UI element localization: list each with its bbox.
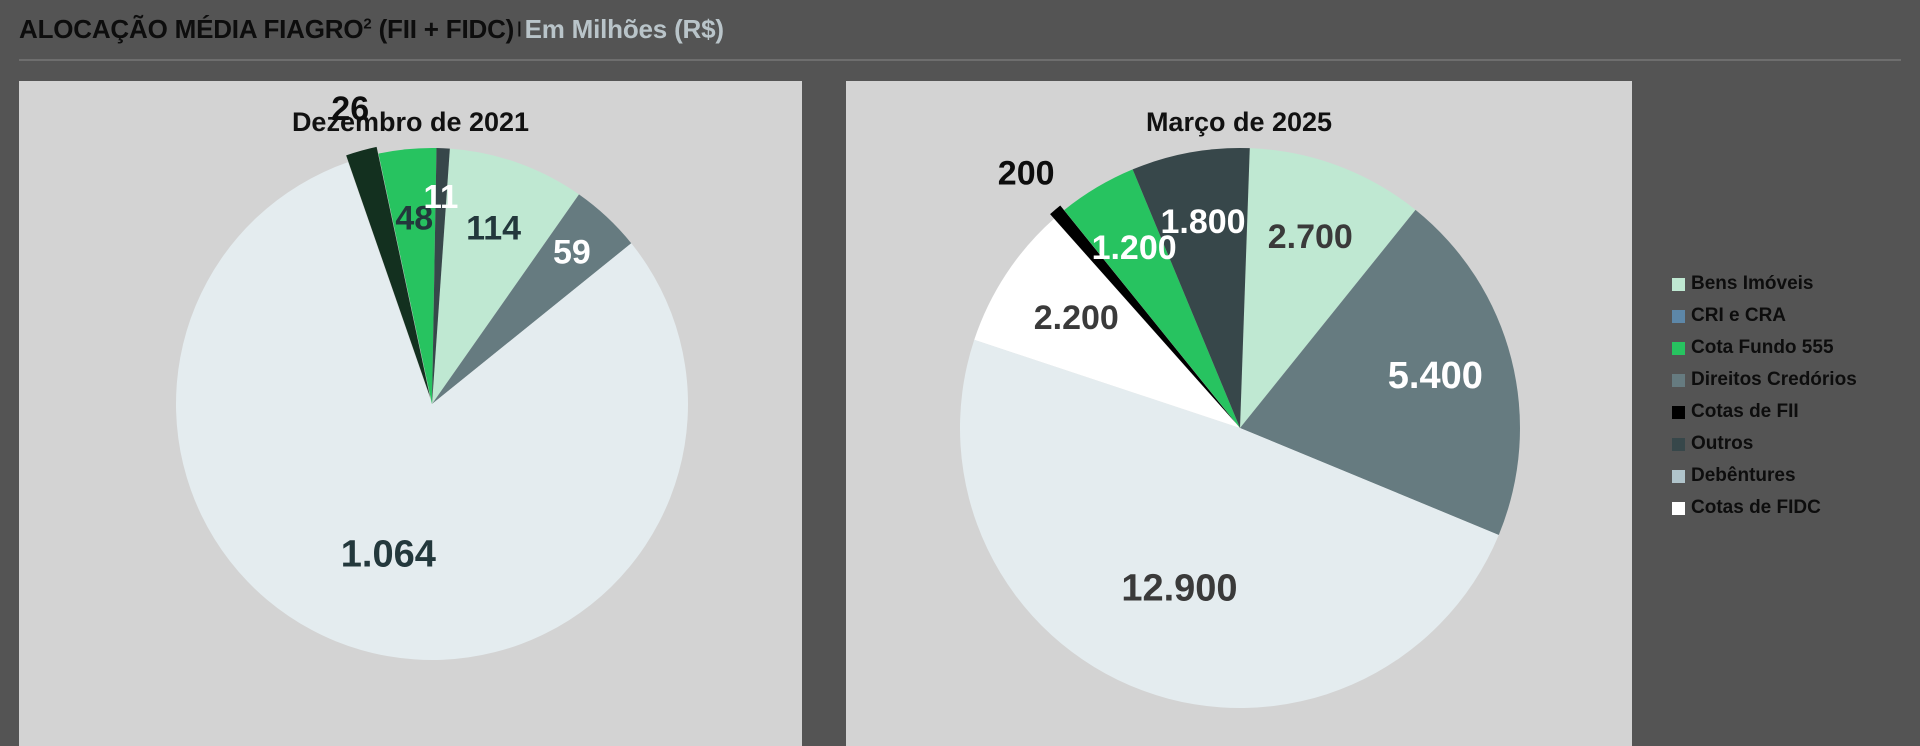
chart-title-right: Março de 2025 [846, 107, 1632, 138]
page-title-main: ALOCAÇÃO MÉDIA FIAGRO [19, 14, 363, 44]
legend-item-label: Debêntures [1691, 465, 1796, 487]
legend-swatch-icon [1672, 278, 1685, 291]
legend-item[interactable]: Outros [1672, 428, 1912, 460]
legend-item-label: CRI e CRA [1691, 305, 1786, 327]
header-separator: | [514, 20, 524, 38]
legend-item[interactable]: Cotas de FIDC [1672, 492, 1912, 524]
pie-slice-value-label: 26 [331, 90, 369, 128]
chart-panel-left: Dezembro de 2021 114591.064264811 [19, 81, 802, 746]
pie-slice-value-label: 59 [553, 233, 591, 271]
screenshot-root: ALOCAÇÃO MÉDIA FIAGRO2 (FII + FIDC) | Em… [0, 0, 1920, 746]
legend-swatch-icon [1672, 406, 1685, 419]
legend-swatch-icon [1672, 310, 1685, 323]
legend-item[interactable]: Cotas de FII [1672, 396, 1912, 428]
legend-item[interactable]: Debêntures [1672, 460, 1912, 492]
legend-item-label: Cotas de FII [1691, 401, 1799, 423]
page-header: ALOCAÇÃO MÉDIA FIAGRO2 (FII + FIDC) | Em… [0, 0, 1920, 58]
legend-swatch-icon [1672, 374, 1685, 387]
pie-slice-value-label: 200 [998, 155, 1055, 193]
legend-item[interactable]: Cota Fundo 555 [1672, 332, 1912, 364]
legend-item-label: Cotas de FIDC [1691, 497, 1821, 519]
pie-slice-value-label: 1.064 [341, 534, 436, 576]
pie-chart-right: 2.7005.40012.9002.2002001.2001.800 [960, 148, 1520, 708]
pie-slice-value-label: 1.800 [1161, 203, 1246, 241]
legend-swatch-icon [1672, 342, 1685, 355]
pie-svg: 2.7005.40012.9002.2002001.2001.800 [960, 148, 1520, 708]
page-title-scope: (FII + FIDC) [372, 14, 515, 44]
page-title: ALOCAÇÃO MÉDIA FIAGRO2 (FII + FIDC) [19, 14, 514, 45]
header-divider [19, 59, 1901, 61]
legend-item-label: Cota Fundo 555 [1691, 337, 1834, 359]
legend-item[interactable]: Bens Imóveis [1672, 268, 1912, 300]
pie-svg: 114591.064264811 [176, 148, 688, 660]
legend-swatch-icon [1672, 438, 1685, 451]
pie-slice-value-label: 5.400 [1388, 355, 1483, 397]
legend-item-label: Direitos Credórios [1691, 369, 1857, 391]
legend-item[interactable]: CRI e CRA [1672, 300, 1912, 332]
chart-legend: Bens ImóveisCRI e CRACota Fundo 555Direi… [1672, 268, 1912, 524]
legend-swatch-icon [1672, 502, 1685, 515]
legend-item-label: Bens Imóveis [1691, 273, 1814, 295]
pie-slice-value-label: 12.900 [1121, 568, 1237, 610]
pie-slice-value-label: 11 [423, 178, 458, 215]
pie-slice-value-label: 114 [466, 209, 521, 247]
pie-slice-value-label: 2.200 [1034, 299, 1119, 337]
pie-chart-left: 114591.064264811 [176, 148, 688, 660]
legend-item-label: Outros [1691, 433, 1753, 455]
legend-swatch-icon [1672, 470, 1685, 483]
chart-title-left: Dezembro de 2021 [19, 107, 802, 138]
chart-panel-right: Março de 2025 2.7005.40012.9002.2002001.… [846, 81, 1632, 746]
page-title-footnote-marker: 2 [363, 15, 371, 32]
header-subtitle: Em Milhões (R$) [525, 14, 724, 45]
pie-slice-value-label: 2.700 [1268, 218, 1353, 256]
legend-item[interactable]: Direitos Credórios [1672, 364, 1912, 396]
